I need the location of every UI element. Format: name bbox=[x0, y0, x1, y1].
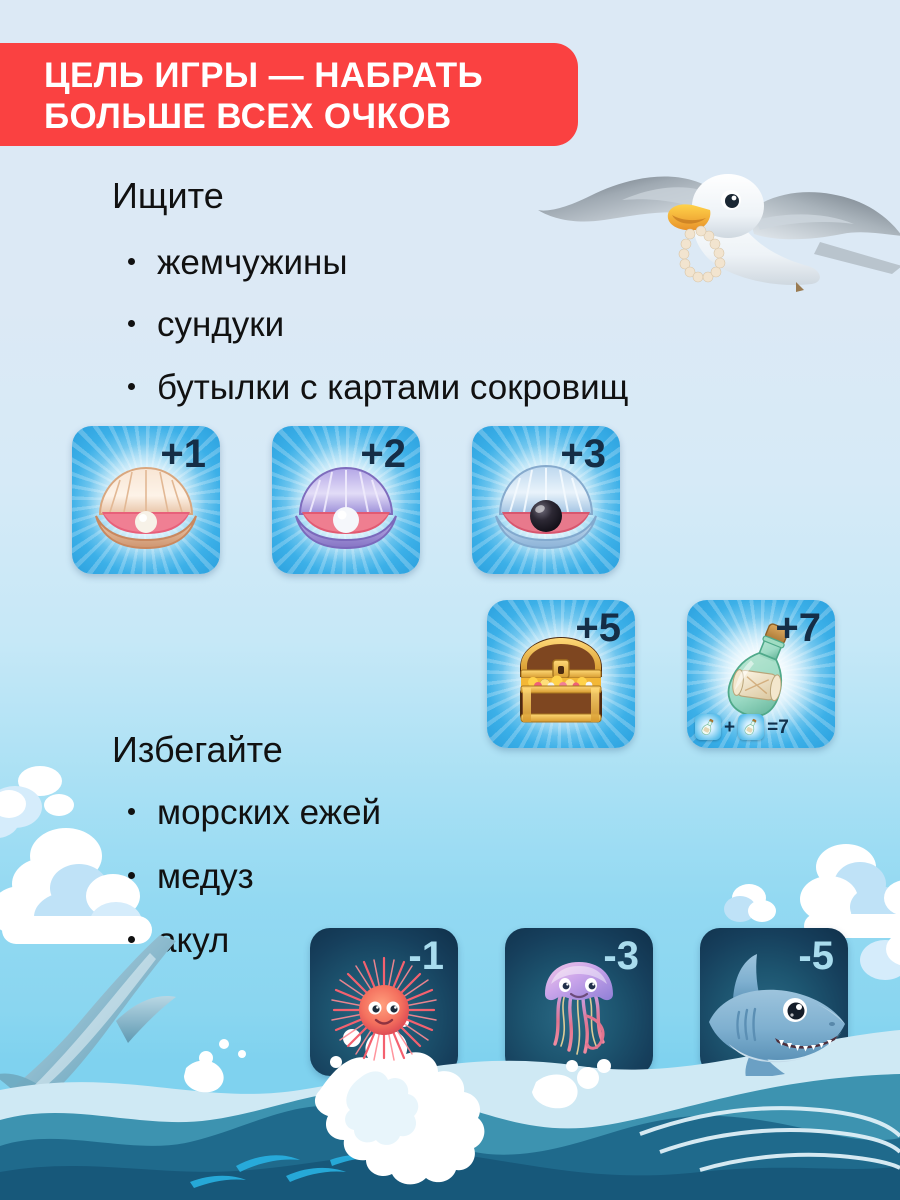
dolphin-icon bbox=[0, 935, 280, 1145]
score-card-plus-7[interactable]: +7 bbox=[687, 600, 835, 748]
infographic-page: ЦЕЛЬ ИГРЫ — НАБРАТЬ БОЛЬШЕ ВСЕХ ОЧКОВ bbox=[0, 0, 900, 1200]
list-item: морских ежей bbox=[128, 793, 381, 833]
list-item-label: бутылки с картами сокровищ bbox=[157, 368, 628, 408]
bottle-icon bbox=[695, 714, 721, 740]
score-card-minus-5[interactable]: -5 bbox=[700, 928, 848, 1076]
score-card-plus-2[interactable]: +2 bbox=[272, 426, 420, 574]
card-score: +1 bbox=[160, 434, 206, 474]
bullet-icon bbox=[128, 258, 135, 265]
equals-result: =7 bbox=[767, 718, 789, 737]
list-item: бутылки с картами сокровищ bbox=[128, 368, 628, 408]
bullet-icon bbox=[128, 936, 135, 943]
card-score: -3 bbox=[603, 936, 639, 976]
header-banner: ЦЕЛЬ ИГРЫ — НАБРАТЬ БОЛЬШЕ ВСЕХ ОЧКОВ bbox=[0, 43, 578, 146]
score-card-minus-3[interactable]: -3 bbox=[505, 928, 653, 1076]
score-card-plus-5[interactable]: +5 bbox=[487, 600, 635, 748]
card-score: +2 bbox=[360, 434, 406, 474]
list-item-label: сундуки bbox=[157, 305, 284, 345]
list-item-label: акул bbox=[157, 921, 229, 961]
list-item: жемчужины bbox=[128, 243, 348, 283]
card-score: +5 bbox=[575, 608, 621, 648]
card-score: +3 bbox=[560, 434, 606, 474]
list-item-label: жемчужины bbox=[157, 243, 348, 283]
section-heading-avoid: Избегайте bbox=[112, 730, 283, 770]
list-item: медуз bbox=[128, 857, 254, 897]
card-score: -1 bbox=[408, 936, 444, 976]
page-title: ЦЕЛЬ ИГРЫ — НАБРАТЬ БОЛЬШЕ ВСЕХ ОЧКОВ bbox=[44, 55, 558, 137]
plus-operator: + bbox=[724, 718, 735, 737]
list-item: акул bbox=[128, 921, 229, 961]
bottle-combination-formula: + =7 bbox=[695, 714, 789, 740]
list-item-label: морских ежей bbox=[157, 793, 381, 833]
score-card-plus-1[interactable]: +1 bbox=[72, 426, 220, 574]
section-heading-search: Ищите bbox=[112, 176, 224, 216]
cloud-right-edge bbox=[852, 930, 900, 990]
seagull-icon bbox=[520, 138, 900, 318]
score-card-plus-3[interactable]: +3 bbox=[472, 426, 620, 574]
bullet-icon bbox=[128, 808, 135, 815]
card-score: -5 bbox=[798, 936, 834, 976]
list-item-label: медуз bbox=[157, 857, 254, 897]
cloud-left-small bbox=[0, 760, 108, 830]
bullet-icon bbox=[128, 320, 135, 327]
score-card-minus-1[interactable]: -1 bbox=[310, 928, 458, 1076]
bottle-icon bbox=[738, 714, 764, 740]
card-score: +7 bbox=[775, 608, 821, 648]
cloud-right-small bbox=[722, 880, 782, 930]
list-item: сундуки bbox=[128, 305, 284, 345]
bullet-icon bbox=[128, 872, 135, 879]
cloud-left-edge bbox=[0, 790, 44, 850]
bullet-icon bbox=[128, 383, 135, 390]
